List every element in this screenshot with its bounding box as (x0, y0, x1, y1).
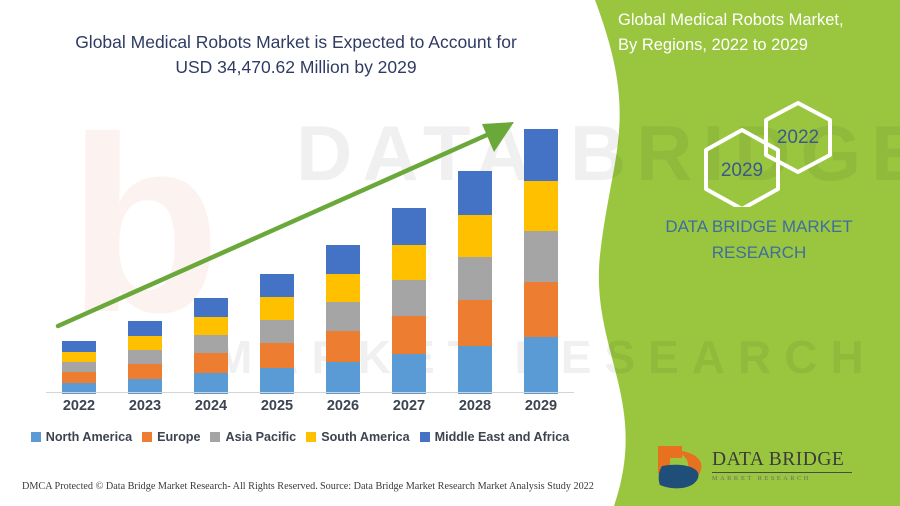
bar-segment-south-america (128, 336, 162, 350)
legend-label: Asia Pacific (225, 430, 296, 444)
bar-segment-asia-pacific (128, 350, 162, 364)
panel-brand-line1: DATA BRIDGE MARKET (665, 217, 852, 236)
bar-segment-middle-east-and-africa (194, 298, 228, 317)
bar-segment-middle-east-and-africa (260, 274, 294, 297)
bar-segment-south-america (326, 274, 360, 302)
panel-brand-line2: RESEARCH (712, 243, 806, 262)
chart-legend: North AmericaEuropeAsia PacificSouth Ame… (24, 430, 576, 444)
bar-segment-south-america (194, 317, 228, 335)
chart-x-tick-labels: 20222023202420252026202720282029 (46, 398, 574, 420)
bar-segment-europe (392, 316, 426, 354)
page-title: Global Medical Robots Market is Expected… (22, 30, 570, 80)
bar-segment-europe (524, 282, 558, 337)
bar-column-2027 (392, 208, 426, 394)
bar-segment-europe (194, 353, 228, 373)
hexagon-2029-label: 2029 (721, 160, 763, 181)
bar-segment-middle-east-and-africa (62, 341, 96, 352)
bar-segment-europe (260, 343, 294, 368)
bar-column-2028 (458, 171, 492, 394)
bar-segment-europe (458, 300, 492, 346)
legend-item-europe[interactable]: Europe (142, 430, 200, 444)
bar-segment-europe (62, 372, 96, 383)
bar-column-2023 (128, 321, 162, 394)
logo-divider (712, 472, 852, 473)
bar-segment-middle-east-and-africa (326, 245, 360, 274)
panel-brand-text: DATA BRIDGE MARKET RESEARCH (630, 214, 888, 266)
bar-segment-middle-east-and-africa (458, 171, 492, 215)
bar-segment-middle-east-and-africa (392, 208, 426, 245)
bar-segment-north-america (194, 373, 228, 394)
data-bridge-logo-text: DATA BRIDGE MARKET RESEARCH (712, 449, 882, 482)
bar-segment-europe (128, 364, 162, 379)
bar-column-2022 (62, 341, 96, 394)
x-tick-2024: 2024 (181, 398, 241, 414)
x-tick-2025: 2025 (247, 398, 307, 414)
x-tick-2026: 2026 (313, 398, 373, 414)
x-tick-2022: 2022 (49, 398, 109, 414)
legend-label: North America (46, 430, 132, 444)
bar-column-2026 (326, 245, 360, 394)
bar-segment-middle-east-and-africa (128, 321, 162, 336)
bar-segment-north-america (458, 346, 492, 394)
bar-segment-north-america (524, 337, 558, 394)
stacked-bar-chart (46, 112, 574, 394)
infographic-canvas: b DATA BRIDGE MARKET RESEARCH Global Med… (0, 0, 900, 506)
bar-segment-asia-pacific (458, 257, 492, 300)
legend-item-asia-pacific[interactable]: Asia Pacific (210, 430, 296, 444)
legend-item-north-america[interactable]: North America (31, 430, 132, 444)
logo-title: DATA BRIDGE (712, 449, 882, 471)
legend-swatch-icon (306, 432, 316, 442)
legend-label: Middle East and Africa (435, 430, 570, 444)
legend-label: Europe (157, 430, 200, 444)
bar-segment-europe (326, 331, 360, 362)
bar-segment-asia-pacific (194, 335, 228, 353)
legend-swatch-icon (142, 432, 152, 442)
legend-item-south-america[interactable]: South America (306, 430, 409, 444)
hexagon-2022-label: 2022 (777, 127, 819, 148)
legend-label: South America (321, 430, 409, 444)
bar-segment-asia-pacific (326, 302, 360, 331)
legend-item-middle-east-and-africa[interactable]: Middle East and Africa (420, 430, 570, 444)
legend-swatch-icon (420, 432, 430, 442)
bar-column-2024 (194, 298, 228, 394)
bar-segment-asia-pacific (392, 280, 426, 316)
bar-segment-south-america (524, 181, 558, 231)
bar-segment-south-america (392, 245, 426, 280)
x-tick-2023: 2023 (115, 398, 175, 414)
panel-title: Global Medical Robots Market, By Regions… (618, 8, 890, 58)
hexagon-badges: 2022 2029 (690, 95, 855, 207)
logo-subtitle: MARKET RESEARCH (712, 475, 882, 482)
footer-dmca-notice: DMCA Protected © Data Bridge Market Rese… (22, 481, 318, 492)
bar-segment-south-america (458, 215, 492, 257)
x-tick-2028: 2028 (445, 398, 505, 414)
legend-swatch-icon (31, 432, 41, 442)
bar-column-2025 (260, 274, 294, 394)
bar-segment-north-america (326, 362, 360, 394)
legend-swatch-icon (210, 432, 220, 442)
bar-segment-north-america (392, 354, 426, 394)
panel-title-line1: Global Medical Robots Market, (618, 11, 844, 29)
bar-segment-south-america (62, 352, 96, 362)
footer-source-note: Source: Data Bridge Market Research Mark… (320, 481, 594, 492)
bar-segment-south-america (260, 297, 294, 320)
bar-segment-asia-pacific (524, 231, 558, 282)
panel-title-line2: By Regions, 2022 to 2029 (618, 36, 808, 54)
x-tick-2029: 2029 (511, 398, 571, 414)
bar-segment-middle-east-and-africa (524, 129, 558, 181)
bar-segment-asia-pacific (260, 320, 294, 343)
bar-segment-asia-pacific (62, 362, 96, 372)
bar-column-2029 (524, 129, 558, 394)
chart-x-axis-line (46, 392, 574, 393)
page-title-line1: Global Medical Robots Market is Expected… (75, 32, 517, 52)
x-tick-2027: 2027 (379, 398, 439, 414)
bar-segment-north-america (260, 368, 294, 394)
page-title-line2: USD 34,470.62 Million by 2029 (175, 57, 416, 77)
